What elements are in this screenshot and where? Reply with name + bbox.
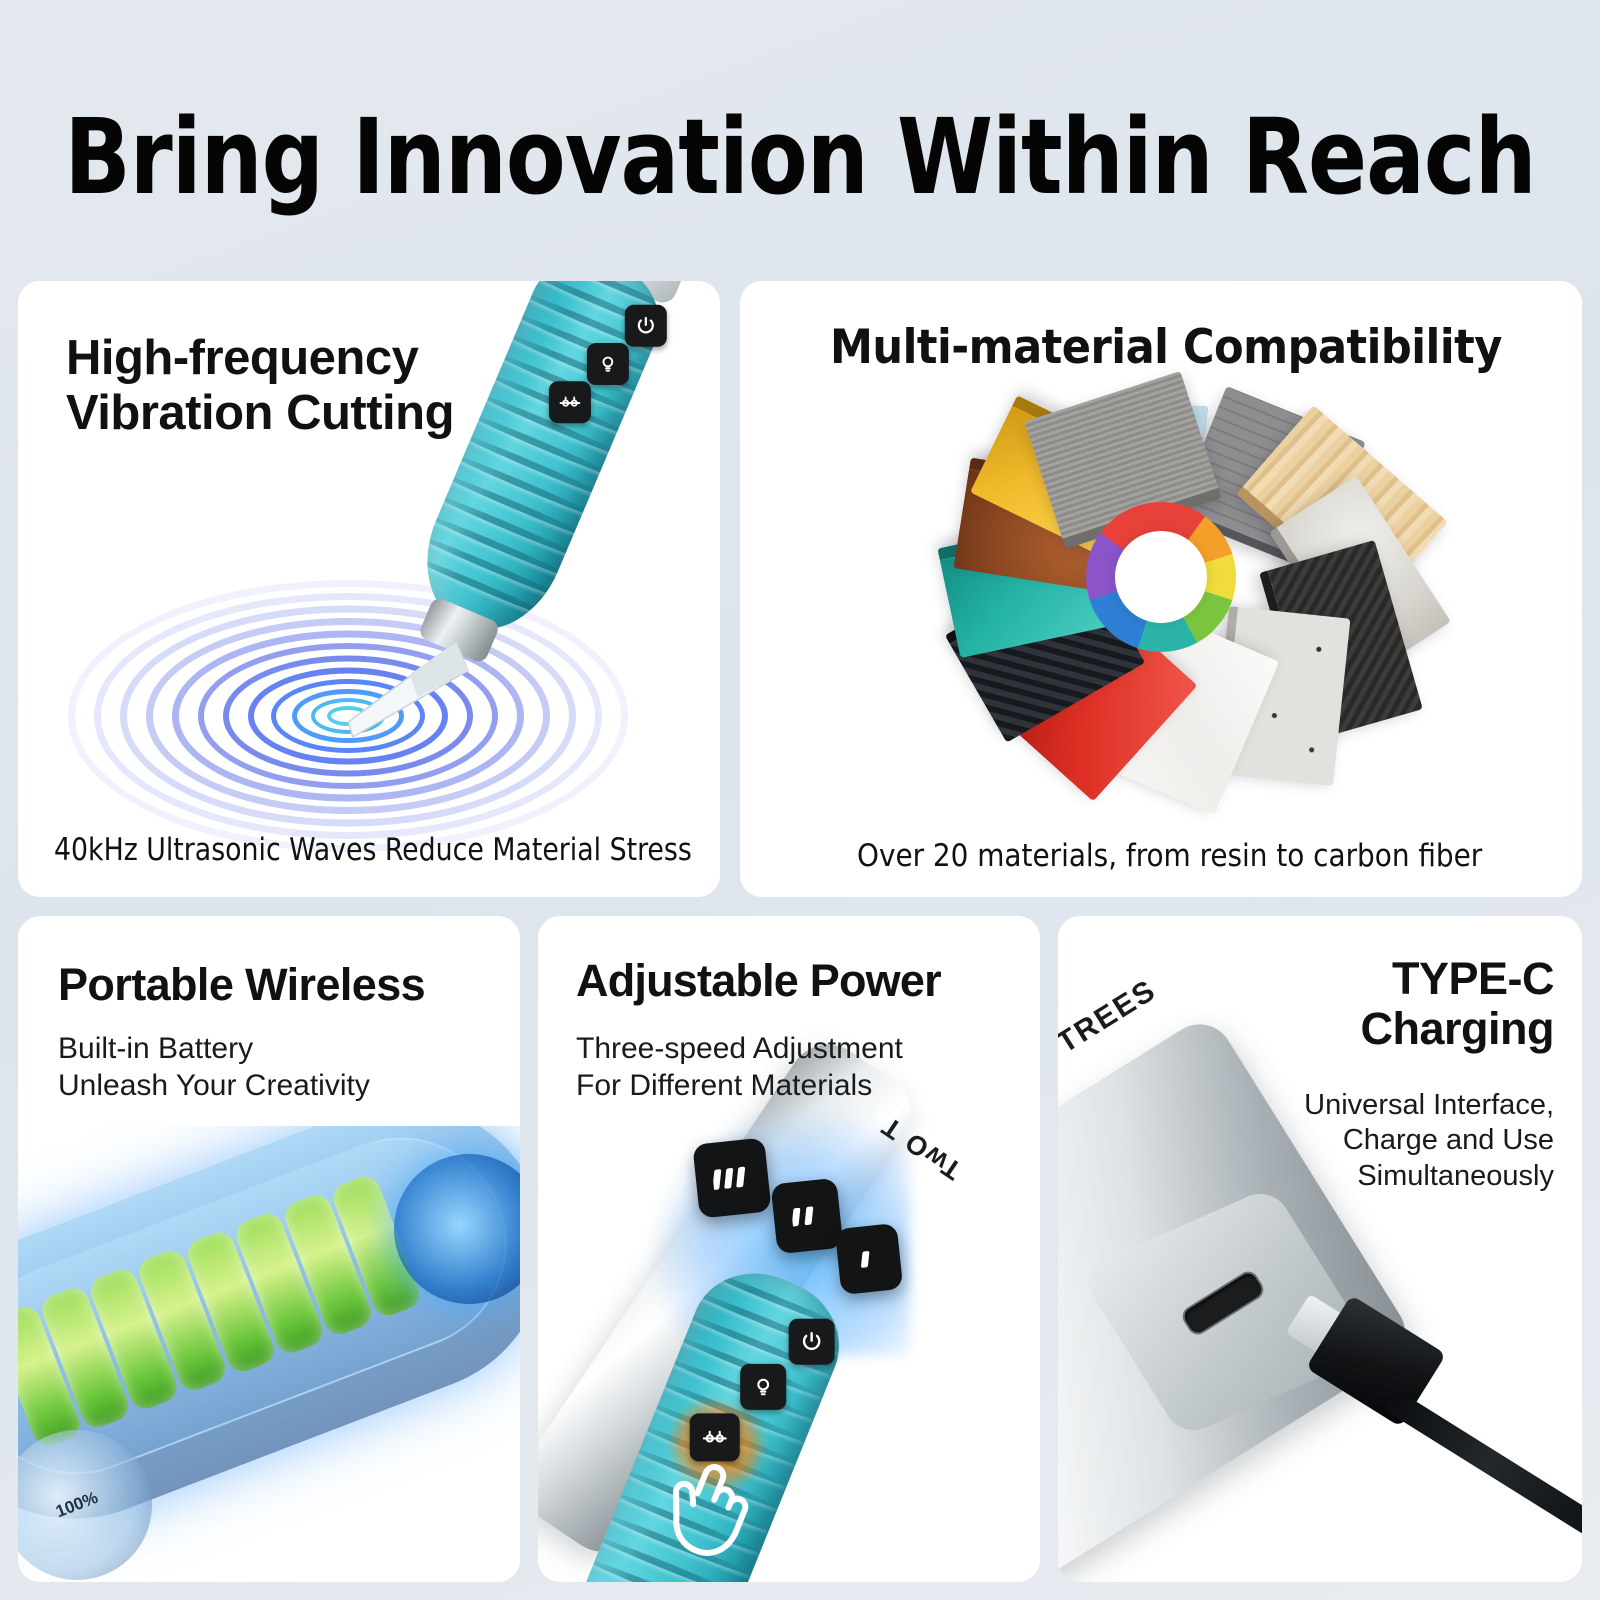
card-portable-subtitle: Built-in Battery Unleash Your Creativity (58, 1031, 370, 1104)
card-adjustable-power: TwO T (538, 916, 1040, 1582)
fan-center-hole (1115, 531, 1207, 623)
speed-level-3-icon[interactable] (692, 1137, 771, 1218)
card-typec-charging: TREES TYPE-C Charging Universal Interfac… (1058, 916, 1582, 1582)
card-power-subtitle: Three-speed Adjustment For Different Mat… (576, 1031, 903, 1104)
card-vibration-title: High-frequency Vibration Cutting (66, 331, 454, 441)
battery-xray-art: 100% (18, 1126, 520, 1582)
page-title: Bring Innovation Within Reach (56, 96, 1544, 218)
speed-level-2-icon[interactable] (771, 1178, 844, 1255)
battery-level-label: 100% (53, 1488, 101, 1522)
card-portable-title: Portable Wireless (58, 960, 425, 1010)
card-typec-subtitle: Universal Interface, Charge and Use Simu… (1304, 1088, 1554, 1194)
card-material-caption: Over 20 materials, from resin to carbon … (857, 838, 1482, 874)
power-icon[interactable] (625, 305, 667, 347)
card-material-title: Multi-material Compatibility (830, 322, 1502, 375)
brand-label-typec: TREES (1058, 973, 1163, 1060)
lamp-icon[interactable] (587, 343, 629, 385)
material-swatch-fan (901, 342, 1421, 812)
power-icon[interactable] (789, 1319, 835, 1365)
usb-cable (1382, 1388, 1582, 1567)
card-power-title: Adjustable Power (576, 956, 941, 1006)
card-vibration-cutting: High-frequency Vibration Cutting 40kHz U… (18, 281, 720, 897)
card-vibration-caption: 40kHz Ultrasonic Waves Reduce Material S… (54, 832, 692, 868)
speed-icon[interactable] (549, 381, 591, 423)
infographic-page: Bring Innovation Within Reach (0, 0, 1600, 1600)
card-multi-material: Multi-material Compatibility Over 20 mat… (740, 281, 1582, 897)
lamp-icon[interactable] (740, 1364, 786, 1410)
card-typec-title: TYPE-C Charging (1361, 954, 1555, 1055)
card-portable-wireless: 100% Portable Wireless Built-in Battery … (18, 916, 520, 1582)
